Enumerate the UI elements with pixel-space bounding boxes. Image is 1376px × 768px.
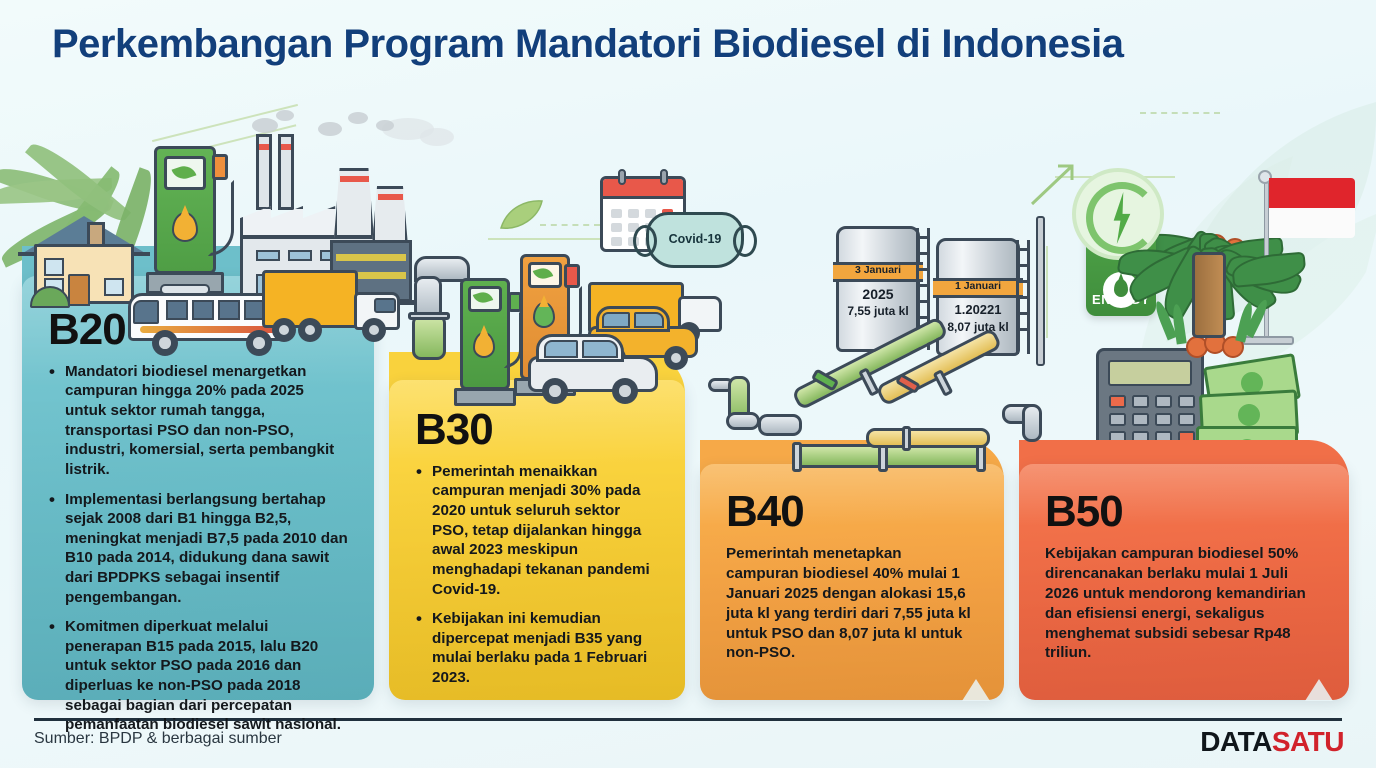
list-item: Komitmen diperkuat melalui penerapan B15… (48, 617, 348, 735)
fuel-drop-icon (172, 212, 198, 242)
factory-window (288, 250, 312, 261)
bus-window (218, 300, 240, 320)
fuel-nozzle (564, 264, 580, 288)
car-window (634, 312, 664, 328)
fuel-pump-base (454, 388, 516, 406)
list-item: Kebijakan ini kemudian dipercepat menjad… (415, 609, 659, 687)
car-window (602, 312, 630, 328)
car-wheel (542, 378, 568, 404)
tank-year-left: 2025 (836, 286, 920, 302)
tank-band-label-left: 3 Januari (836, 264, 920, 276)
car-window (544, 340, 578, 358)
pipe-biofuel-yellow-horizontal (866, 428, 990, 448)
truck-wheel (362, 318, 386, 342)
pipe-elbow (758, 414, 802, 436)
truck-wheel (298, 318, 322, 342)
smoke-puff (348, 112, 368, 124)
tank-ladder (1016, 240, 1030, 354)
pipe-ring (902, 426, 911, 451)
tank-volume-left: 7,55 juta kl (832, 304, 924, 318)
fuel-hose (208, 180, 234, 256)
stage-bullets-b30: Pemerintah menaikkan campuran menjadi 30… (415, 462, 659, 688)
smoke-puff (376, 120, 394, 131)
illustration-b50-scene (1040, 140, 1376, 490)
stage-text-b40: Pemerintah menetapkan campuran biodiesel… (726, 544, 978, 663)
truck-windshield (374, 298, 396, 313)
stage-code-b50: B50 (1045, 490, 1323, 535)
list-item: Implementasi berlangsung bertahap sejak … (48, 490, 348, 608)
calendar-cell (628, 209, 639, 218)
tank-code-right: 1.20221 (934, 302, 1022, 317)
factory-window (256, 250, 280, 261)
cooling-tower-stripe (340, 176, 369, 182)
tank-band-label-right: 1 Januari (936, 280, 1020, 292)
calendar-cell (611, 223, 622, 232)
list-item: Mandatori biodiesel menargetkan campuran… (48, 362, 348, 480)
smokestack-stripe (259, 144, 269, 150)
decor-dashed-line (1140, 112, 1220, 114)
house-door (68, 274, 90, 306)
pipe-elbow (726, 412, 760, 430)
car-wheel (612, 378, 638, 404)
house-window (104, 278, 124, 296)
infographic-canvas: Perkembangan Program Mandatori Biodiesel… (0, 0, 1376, 768)
bus-wheel (152, 330, 178, 356)
fuel-drop-icon (533, 302, 555, 328)
cloud-shape (420, 128, 454, 146)
logo-primary-text: DATA (1200, 726, 1272, 757)
cooling-tower-stripe (378, 194, 403, 200)
smoke-puff (252, 118, 278, 133)
palm-trunk (1192, 252, 1226, 338)
smoke-puff (318, 122, 342, 136)
illustration-b20-scene (0, 0, 420, 350)
pipe-segment (1022, 404, 1042, 442)
plant-pipe (336, 254, 406, 261)
calendar-ring (618, 169, 626, 185)
pipe-ring (792, 442, 802, 472)
logo-accent-text: SATU (1272, 726, 1344, 757)
fuel-drop-icon (473, 332, 495, 358)
leaf-icon (498, 198, 544, 232)
list-item: Pemerintah menaikkan campuran menjadi 30… (415, 462, 659, 599)
fuel-nozzle (212, 154, 228, 180)
illustration-b40-pipes (700, 340, 1040, 505)
decor-dashed-line (540, 224, 600, 226)
bus-window (166, 300, 188, 320)
bus-window (192, 300, 214, 320)
calendar-cell (611, 209, 622, 218)
car-window (582, 340, 618, 358)
datasatu-logo: DATASATU (1200, 726, 1344, 758)
calendar-header (603, 179, 683, 199)
stage-text-b50: Kebijakan campuran biodiesel 50% direnca… (1045, 544, 1323, 663)
fuel-hose (504, 310, 522, 368)
bus-windshield (133, 300, 159, 324)
bus-wheel (246, 330, 272, 356)
car-wheel (664, 346, 688, 370)
calendar-ring (660, 169, 668, 185)
fuel-nozzle (508, 292, 522, 312)
stage-bullets-b20: Mandatori biodiesel menargetkan campuran… (48, 362, 348, 735)
house-window (44, 258, 64, 276)
smoke-puff (276, 110, 294, 121)
smokestack-stripe (281, 144, 291, 150)
truck-wheel (272, 318, 296, 342)
